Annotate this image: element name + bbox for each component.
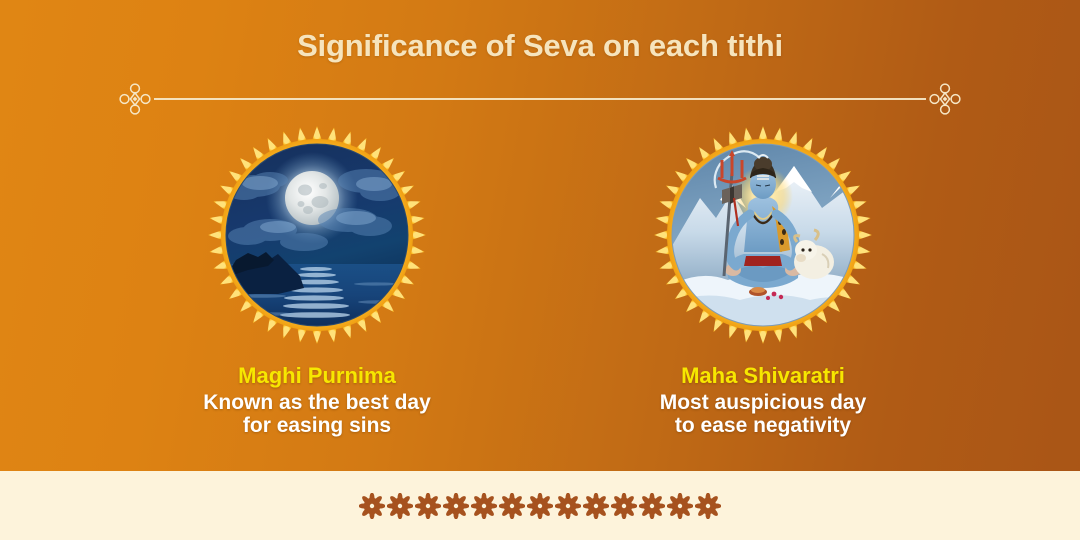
- decorative-divider: [118, 82, 962, 116]
- tithi-description: Most auspicious day to ease negativity: [660, 391, 867, 438]
- tithi-caption: Maha Shivaratri Most auspicious day to e…: [660, 364, 867, 438]
- tithi-card[interactable]: Maghi Purnima Known as the best day for …: [167, 126, 467, 438]
- tithi-name: Maghi Purnima: [203, 364, 431, 389]
- flower-motif-row: [359, 493, 721, 519]
- eight-petal-flower-icon: [471, 493, 497, 519]
- poster-root: Significance of Seva on each tithi: [0, 0, 1080, 540]
- tithi-caption: Maghi Purnima Known as the best day for …: [203, 364, 431, 438]
- eight-petal-flower-icon: [415, 493, 441, 519]
- knot-ornament-icon: [118, 82, 152, 116]
- full-moon-over-sea-image: [208, 126, 426, 344]
- tithi-card-list: Maghi Purnima Known as the best day for …: [0, 126, 1080, 438]
- eight-petal-flower-icon: [611, 493, 637, 519]
- page-title: Significance of Seva on each tithi: [0, 28, 1080, 64]
- divider-line: [154, 98, 926, 100]
- tithi-card[interactable]: Maha Shivaratri Most auspicious day to e…: [613, 126, 913, 438]
- lord-shiva-meditating-image: [654, 126, 872, 344]
- tithi-description: Known as the best day for easing sins: [203, 391, 431, 438]
- eight-petal-flower-icon: [499, 493, 525, 519]
- eight-petal-flower-icon: [667, 493, 693, 519]
- knot-ornament-icon: [928, 82, 962, 116]
- eight-petal-flower-icon: [583, 493, 609, 519]
- eight-petal-flower-icon: [359, 493, 385, 519]
- eight-petal-flower-icon: [527, 493, 553, 519]
- eight-petal-flower-icon: [555, 493, 581, 519]
- eight-petal-flower-icon: [695, 493, 721, 519]
- eight-petal-flower-icon: [639, 493, 665, 519]
- bottom-decorative-band: [0, 471, 1080, 540]
- eight-petal-flower-icon: [387, 493, 413, 519]
- eight-petal-flower-icon: [443, 493, 469, 519]
- tithi-name: Maha Shivaratri: [660, 364, 867, 389]
